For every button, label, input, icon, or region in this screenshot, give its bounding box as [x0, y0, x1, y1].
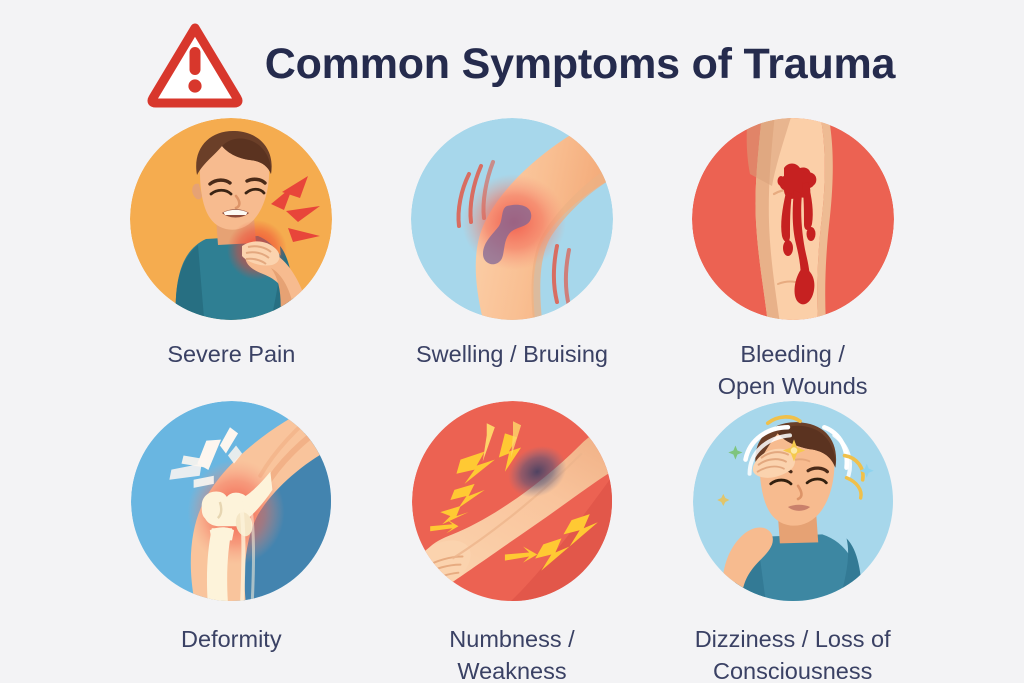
- warning-triangle-icon: [147, 20, 243, 108]
- bleeding-open-wounds-circle: [692, 118, 894, 320]
- swelling-bruising-circle: [411, 118, 613, 320]
- symptom-card-severe-pain[interactable]: Severe Pain: [96, 118, 367, 391]
- dizzy-man-holding-head-icon: [693, 401, 893, 601]
- symptom-card-dizziness-loss-of-consciousness[interactable]: Dizziness / Loss of Consciousness: [657, 401, 928, 674]
- symptom-card-bleeding-open-wounds[interactable]: Bleeding / Open Wounds: [657, 118, 928, 391]
- symptom-label: Bleeding / Open Wounds: [718, 338, 868, 403]
- symptoms-grid: Severe Pain: [96, 118, 928, 674]
- symptom-label: Severe Pain: [167, 338, 295, 370]
- dizziness-circle: [693, 401, 893, 601]
- tingling-arm-numbness-icon: [412, 401, 612, 601]
- symptom-label: Numbness / Weakness: [449, 623, 574, 683]
- fractured-knee-joint-icon: [131, 401, 331, 601]
- symptom-card-swelling-bruising[interactable]: Swelling / Bruising: [377, 118, 648, 391]
- bleeding-leg-wound-icon: [692, 118, 894, 320]
- deformity-circle: [131, 401, 331, 601]
- symptom-label: Deformity: [181, 623, 282, 655]
- symptom-card-deformity[interactable]: Deformity: [96, 401, 367, 674]
- numbness-weakness-circle: [412, 401, 612, 601]
- header: Common Symptoms of Trauma: [0, 14, 1024, 114]
- page-title: Common Symptoms of Trauma: [265, 43, 896, 86]
- symptom-card-numbness-weakness[interactable]: Numbness / Weakness: [377, 401, 648, 674]
- symptom-label: Swelling / Bruising: [416, 338, 608, 370]
- man-holding-shoulder-in-pain-icon: [130, 118, 332, 320]
- severe-pain-circle: [130, 118, 332, 320]
- symptom-label: Dizziness / Loss of Consciousness: [695, 623, 891, 683]
- swollen-bruised-knee-icon: [411, 118, 613, 320]
- trauma-symptoms-infographic: Common Symptoms of Trauma: [0, 0, 1024, 683]
